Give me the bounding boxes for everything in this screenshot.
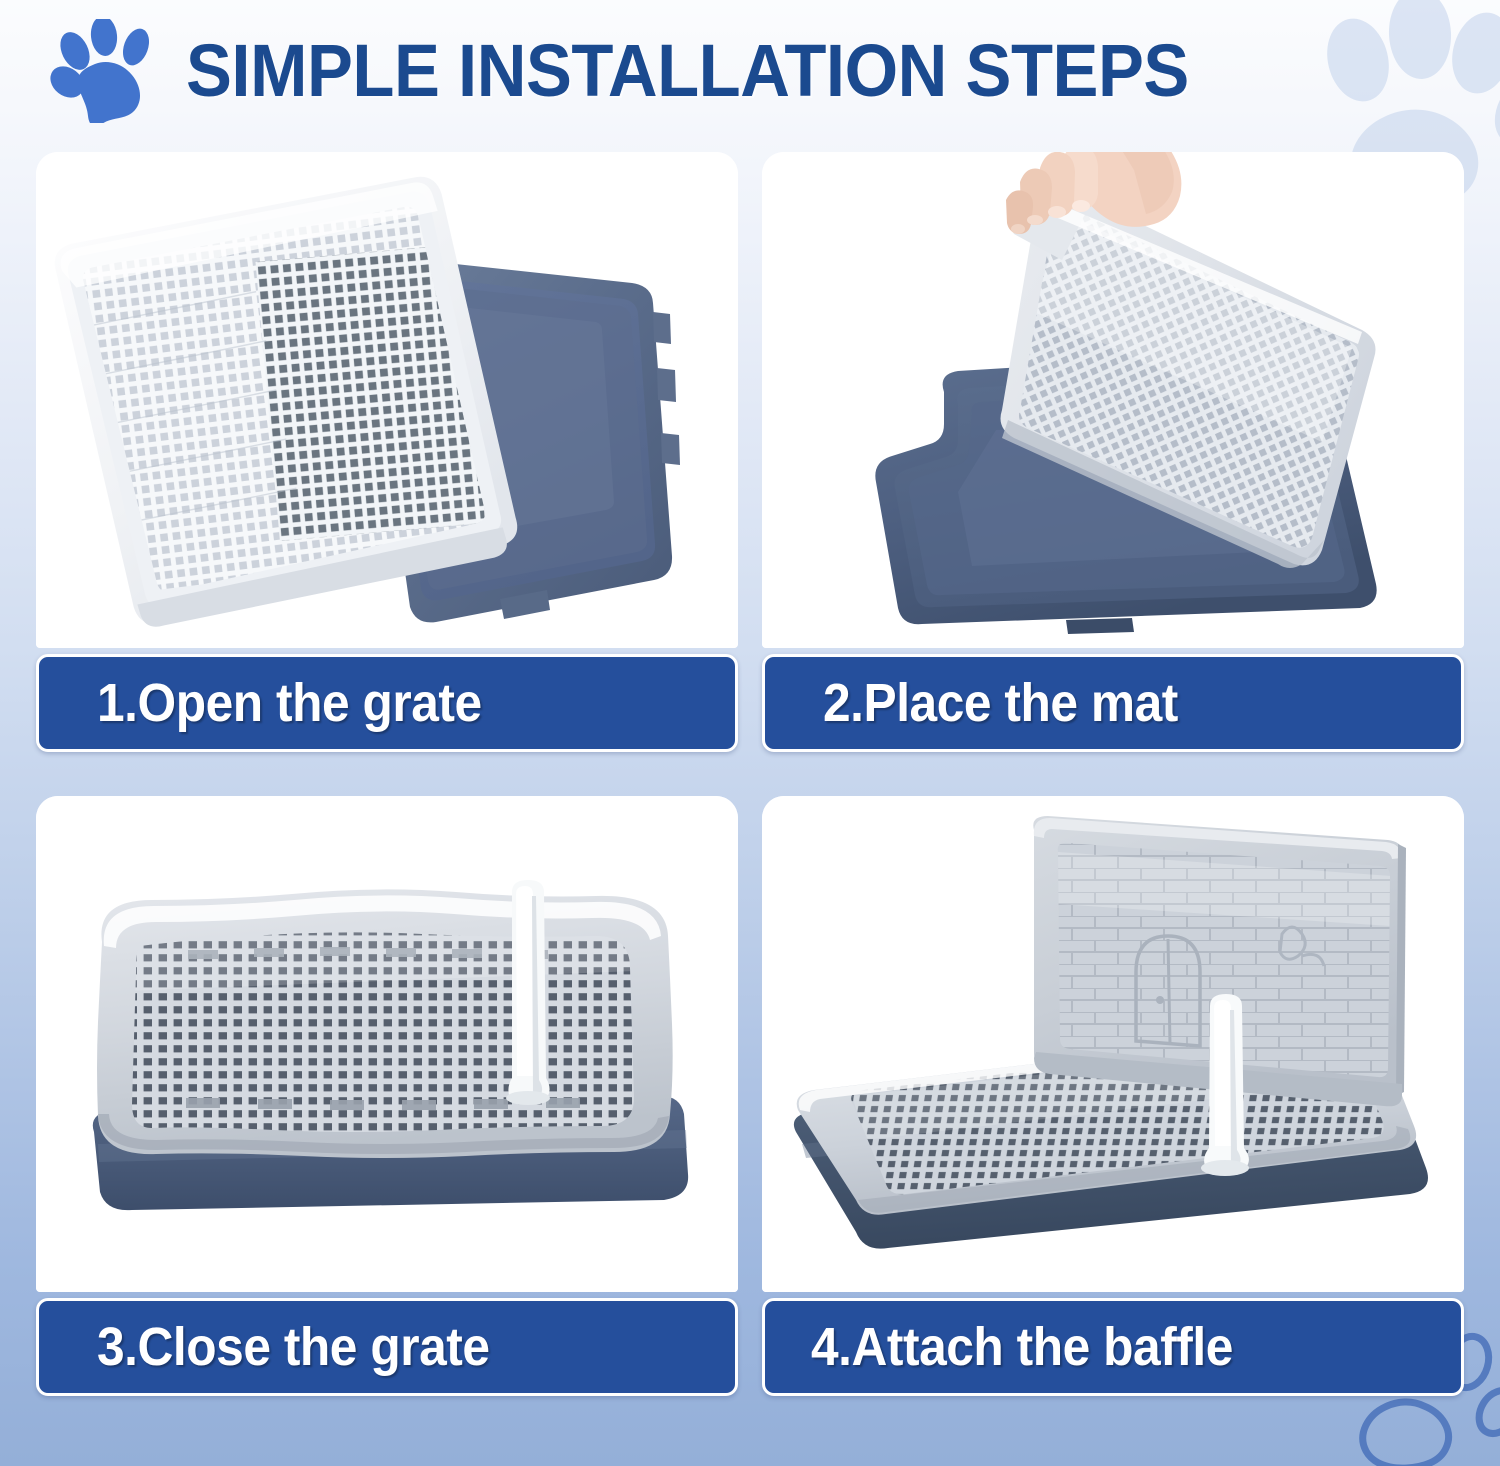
step-1-caption: 1.Open the grate [36,654,738,752]
page-title: SIMPLE INSTALLATION STEPS [186,28,1189,113]
step-4-illustration [762,796,1464,1292]
step-2-illustration [762,152,1464,648]
step-1-illustration [36,152,738,648]
step-card-2: 2.Place the mat [762,152,1464,752]
step-2-photo [762,152,1464,648]
step-4-caption: 4.Attach the baffle [762,1298,1464,1396]
step-1-photo [36,152,738,648]
header: SIMPLE INSTALLATION STEPS [0,0,1500,140]
step-4-caption-text: 4.Attach the baffle [811,1316,1233,1378]
step-3-photo [36,796,738,1292]
steps-grid: 1.Open the grate [36,152,1464,1396]
paw-print-icon [48,19,160,123]
step-3-illustration [36,796,738,1292]
step-1-caption-text: 1.Open the grate [97,672,482,734]
step-2-caption-text: 2.Place the mat [823,672,1178,734]
post-icon [506,880,550,1105]
step-card-4: 4.Attach the baffle [762,796,1464,1396]
infographic-page: SIMPLE INSTALLATION STEPS [0,0,1500,1466]
step-4-photo [762,796,1464,1292]
step-card-3: 3.Close the grate [36,796,738,1396]
step-card-1: 1.Open the grate [36,152,738,752]
step-3-caption: 3.Close the grate [36,1298,738,1396]
step-3-caption-text: 3.Close the grate [97,1316,490,1378]
step-2-caption: 2.Place the mat [762,654,1464,752]
